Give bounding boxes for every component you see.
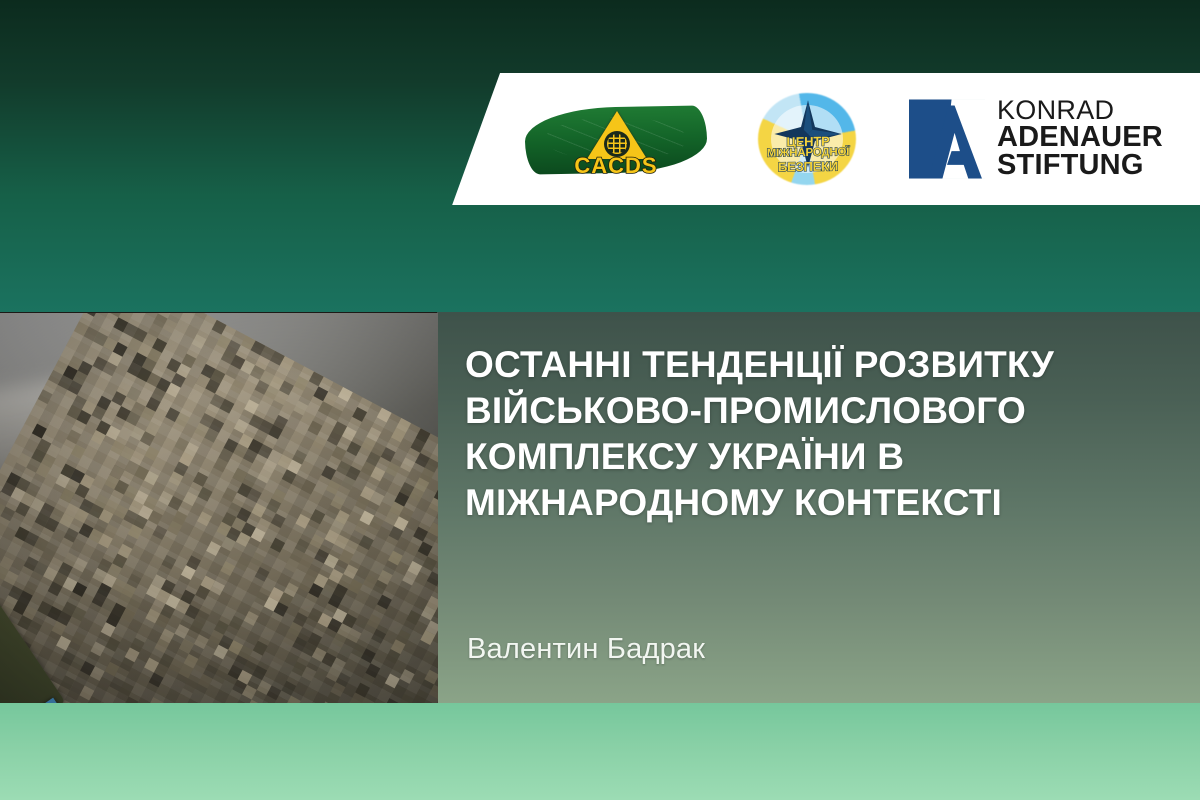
kas-a-mark-icon bbox=[909, 99, 985, 179]
cis-line-3: БЕЗПЕКИ bbox=[747, 159, 869, 174]
center-international-security-logo[interactable]: ЦЕНТР МІЖНАРОДНОЇ БЕЗПЕКИ bbox=[747, 91, 869, 187]
title-block: ОСТАННІ ТЕНДЕНЦІЇ РОЗВИТКУ ВІЙСЬКОВО-ПРО… bbox=[465, 342, 1165, 526]
slide-author: Валентин Бадрак bbox=[467, 633, 705, 666]
background-bottom-band bbox=[0, 703, 1200, 800]
cacds-logo[interactable]: CACDS bbox=[525, 93, 707, 185]
kas-wordmark: KONRAD ADENAUER STIFTUNG bbox=[997, 98, 1163, 180]
logo-slot-cacds[interactable]: CACDS bbox=[525, 93, 707, 185]
presentation-slide: CACDS ЦЕНТР МІЖНАРОДНОЇ БЕЗПЕК bbox=[0, 0, 1200, 800]
konrad-adenauer-stiftung-logo[interactable]: KONRAD ADENAUER STIFTUNG bbox=[909, 98, 1163, 180]
soldier-sleeve-photo bbox=[0, 313, 438, 703]
logo-slot-center-international-security[interactable]: ЦЕНТР МІЖНАРОДНОЇ БЕЗПЕКИ bbox=[747, 91, 869, 187]
cacds-wordmark: CACDS bbox=[525, 153, 707, 179]
logo-slot-konrad-adenauer-stiftung[interactable]: KONRAD ADENAUER STIFTUNG bbox=[909, 98, 1163, 180]
slide-title: ОСТАННІ ТЕНДЕНЦІЇ РОЗВИТКУ ВІЙСЬКОВО-ПРО… bbox=[465, 342, 1165, 526]
kas-line-adenauer: ADENAUER bbox=[997, 124, 1163, 152]
kas-line-stiftung: STIFTUNG bbox=[997, 152, 1163, 180]
center-international-security-wordmark: ЦЕНТР МІЖНАРОДНОЇ БЕЗПЕКИ bbox=[747, 134, 869, 174]
photo-vignette bbox=[0, 313, 438, 703]
logo-banner: CACDS ЦЕНТР МІЖНАРОДНОЇ БЕЗПЕК bbox=[440, 73, 1200, 205]
logo-row: CACDS ЦЕНТР МІЖНАРОДНОЇ БЕЗПЕК bbox=[525, 91, 1163, 187]
